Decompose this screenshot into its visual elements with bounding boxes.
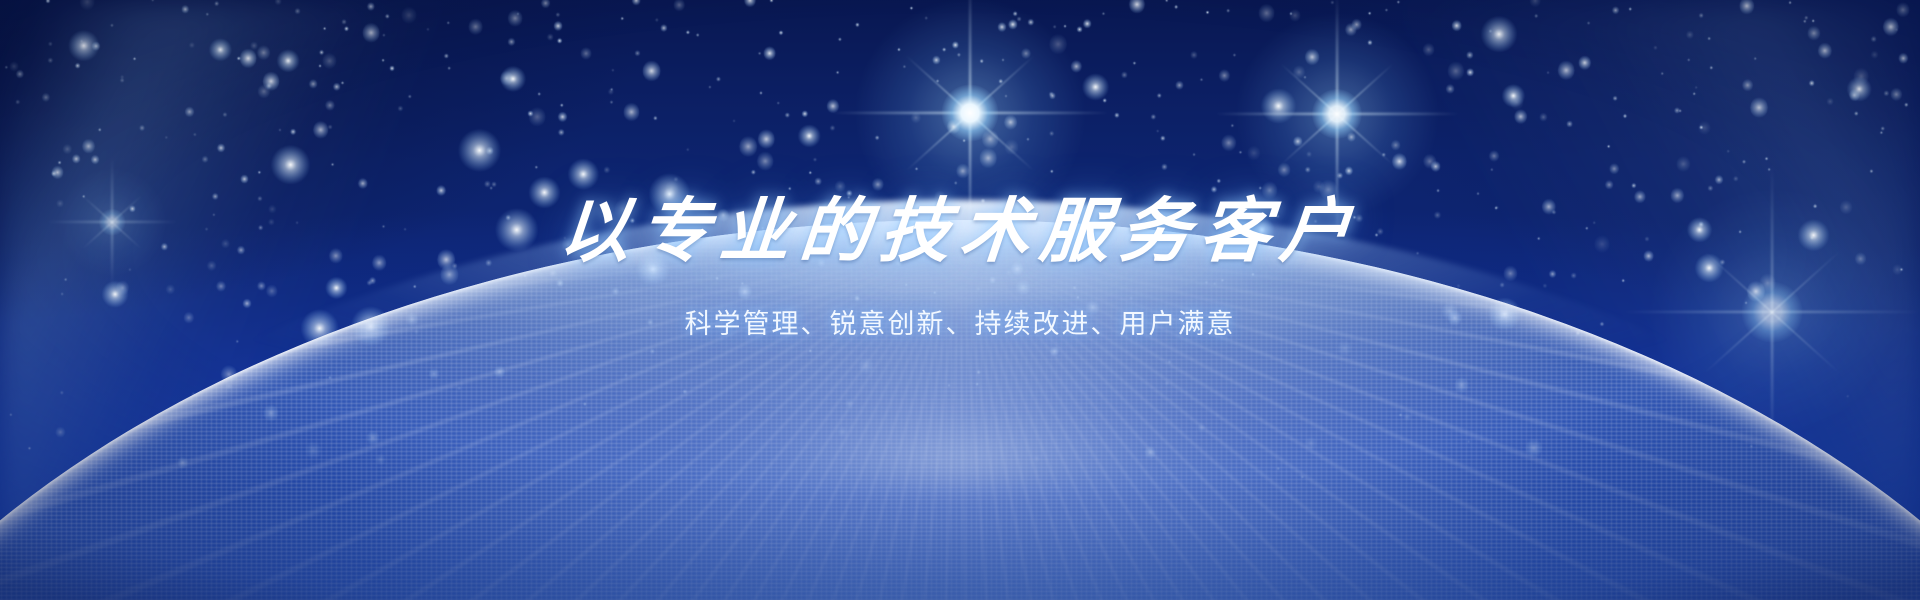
banner-copy: 以专业的技术服务客户 科学管理、锐意创新、持续改进、用户满意: [0, 196, 1920, 341]
flare-halo: [1235, 12, 1440, 217]
flare-beam-h: [831, 112, 1109, 114]
flare-beam-d2: [1280, 63, 1394, 165]
banner-headline: 以专业的技术服务客户: [0, 196, 1920, 266]
hero-banner: 以专业的技术服务客户 科学管理、锐意创新、持续改进、用户满意: [0, 0, 1920, 600]
flare-beam-d1: [906, 55, 1035, 171]
flare-core: [942, 85, 999, 142]
flare-core: [1312, 89, 1362, 139]
flare-beam-h: [1215, 113, 1459, 115]
banner-subtitle: 科学管理、锐意创新、持续改进、用户满意: [0, 302, 1920, 341]
flare-beam-d2: [906, 55, 1035, 171]
flare-beam-d1: [1280, 63, 1394, 165]
